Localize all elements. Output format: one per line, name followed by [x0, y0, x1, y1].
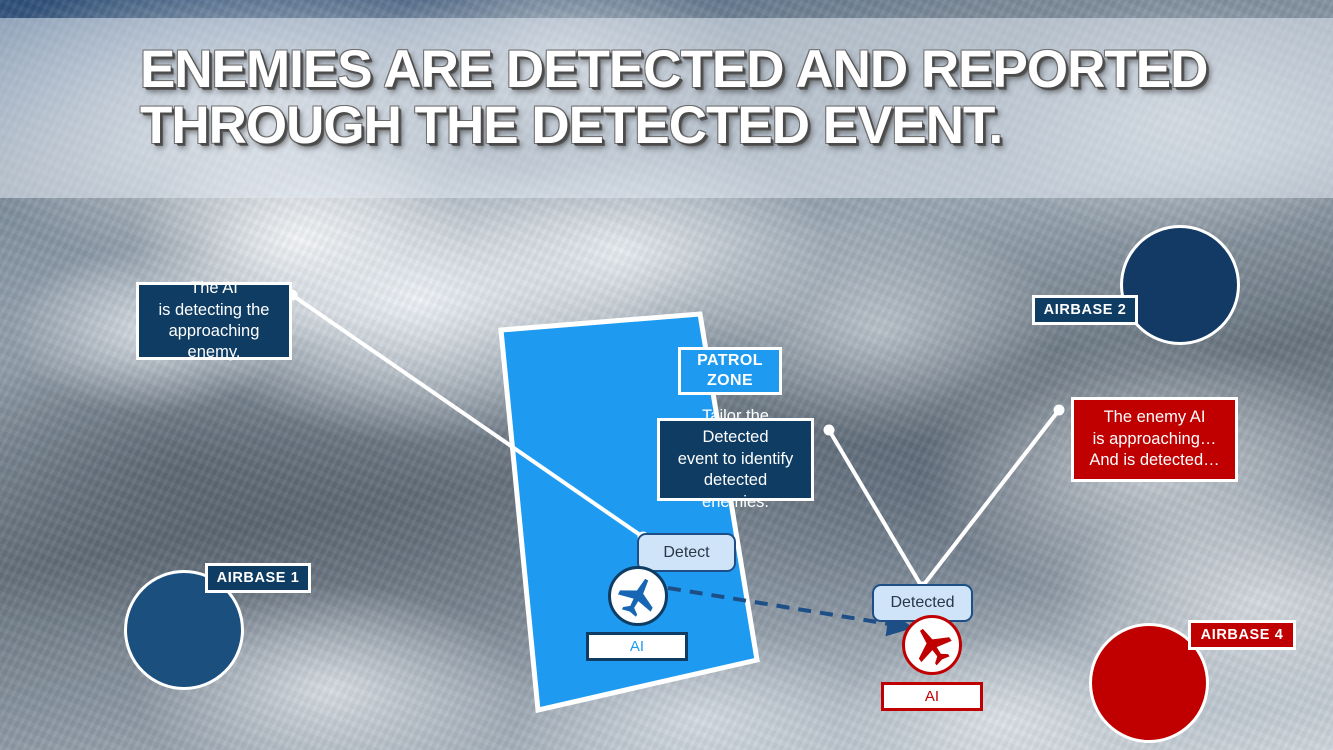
callout-enemy-line-1: The enemy AI — [1104, 407, 1206, 428]
airbase-2-label-text: AIRBASE 2 — [1044, 302, 1127, 318]
callout-tailor-detected[interactable]: Tailor the Detected event to identify de… — [657, 418, 814, 501]
airbase-2-circle[interactable] — [1120, 225, 1240, 345]
airbase-2-label[interactable]: AIRBASE 2 — [1032, 295, 1138, 325]
enemy-ai-label[interactable]: AI — [881, 682, 983, 711]
callout-ai-detecting-line-1: The AI — [190, 278, 238, 299]
callout-tailor-line-3: detected enemies. — [670, 470, 801, 513]
patrol-zone-label[interactable]: PATROL ZONE — [678, 347, 782, 395]
enemy-jet-marker[interactable] — [902, 615, 962, 675]
enemy-ai-label-text: AI — [925, 688, 939, 705]
callout-ai-detecting-line-3: approaching enemy. — [149, 321, 279, 364]
detect-event-node[interactable]: Detect — [637, 533, 736, 572]
slide-canvas: ENEMIES ARE DETECTED AND REPORTED THROUG… — [0, 0, 1333, 750]
airbase-1-label[interactable]: AIRBASE 1 — [205, 563, 311, 593]
callout-enemy-approaching[interactable]: The enemy AI is approaching… And is dete… — [1071, 397, 1238, 482]
callout-enemy-line-2: is approaching… — [1093, 429, 1217, 450]
connector-enemy-detected — [922, 410, 1059, 587]
patrol-zone-label-line-1: PATROL — [697, 351, 763, 371]
callout-ai-detecting[interactable]: The AI is detecting the approaching enem… — [136, 282, 292, 360]
callout-tailor-line-2: event to identify — [678, 449, 794, 470]
detect-event-label: Detect — [663, 544, 709, 562]
callout-ai-detecting-line-2: is detecting the — [159, 300, 270, 321]
patrol-zone-label-line-2: ZONE — [707, 371, 753, 391]
callout-tailor-line-1: Tailor the Detected — [670, 406, 801, 449]
connector-dot — [824, 425, 835, 436]
friendly-jet-marker[interactable] — [608, 566, 668, 626]
detected-event-label: Detected — [890, 594, 954, 612]
airbase-1-label-text: AIRBASE 1 — [217, 570, 300, 586]
jet-icon — [910, 623, 954, 667]
connector-dot — [1054, 405, 1065, 416]
connector-tailor-detected — [829, 430, 922, 587]
airbase-4-label[interactable]: AIRBASE 4 — [1188, 620, 1296, 650]
friendly-ai-label[interactable]: AI — [586, 632, 688, 661]
jet-icon — [616, 574, 660, 618]
callout-enemy-line-3: And is detected… — [1089, 450, 1219, 471]
friendly-ai-label-text: AI — [630, 638, 644, 655]
airbase-4-label-text: AIRBASE 4 — [1201, 627, 1284, 643]
